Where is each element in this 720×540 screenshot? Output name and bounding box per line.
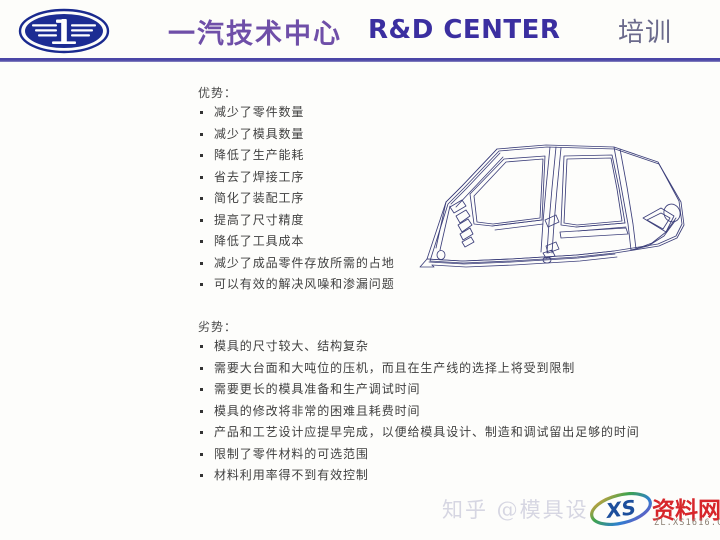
drawbacks-list: 模具的尺寸较大、结构复杂 需要大台面和大吨位的压机，而且在生产线的选择上将受到限… [198,336,640,487]
list-item: 需要更长的模具准备和生产调试时间 [198,379,640,401]
xs-site-watermark: XS 资料网 ZL.XS1616.COM [588,490,720,536]
slide-content: 优势： 减少了零件数量 减少了模具数量 降低了生产能耗 省去了焊接工序 简化了装… [0,62,720,540]
list-item: 需要大台面和大吨位的压机，而且在生产线的选择上将受到限制 [198,358,640,380]
list-item: 材料利用率得不到有效控制 [198,465,640,487]
list-item: 限制了零件材料的可选范围 [198,444,640,466]
list-item: 简化了装配工序 [198,188,395,210]
list-item: 减少了模具数量 [198,124,395,146]
advantages-list: 减少了零件数量 减少了模具数量 降低了生产能耗 省去了焊接工序 简化了装配工序 … [198,102,395,296]
list-item: 降低了工具成本 [198,231,395,253]
list-item: 可以有效的解决风噪和渗漏问题 [198,274,395,296]
list-item: 提高了尺寸精度 [198,210,395,232]
header-title-cn: 一汽技术中心 [168,12,342,51]
slide-header: 一汽技术中心 R&D CENTER 培训 [0,0,720,62]
list-item: 模具的尺寸较大、结构复杂 [198,336,640,358]
zhihu-watermark: 知乎 @模具设 [442,494,589,524]
svg-text:XS: XS [603,495,638,523]
header-subject-label: 培训 [618,12,672,49]
list-item: 产品和工艺设计应提早完成，以便给模具设计、制造和调试留出足够的时间 [198,422,640,444]
xs-badge-icon: XS [588,492,654,526]
drawbacks-heading: 劣势： [198,318,237,335]
xs-site-url: ZL.XS1616.COM [654,518,720,528]
faw-logo [18,8,110,54]
advantages-heading: 优势： [198,84,237,101]
list-item: 减少了零件数量 [198,102,395,124]
list-item: 模具的修改将非常的困难且耗费时间 [198,401,640,423]
list-item: 省去了焊接工序 [198,167,395,189]
car-body-side-panel-wireframe-image [400,128,720,328]
header-title-en: R&D CENTER [368,15,560,45]
list-item: 减少了成品零件存放所需的占地 [198,253,395,275]
list-item: 降低了生产能耗 [198,145,395,167]
